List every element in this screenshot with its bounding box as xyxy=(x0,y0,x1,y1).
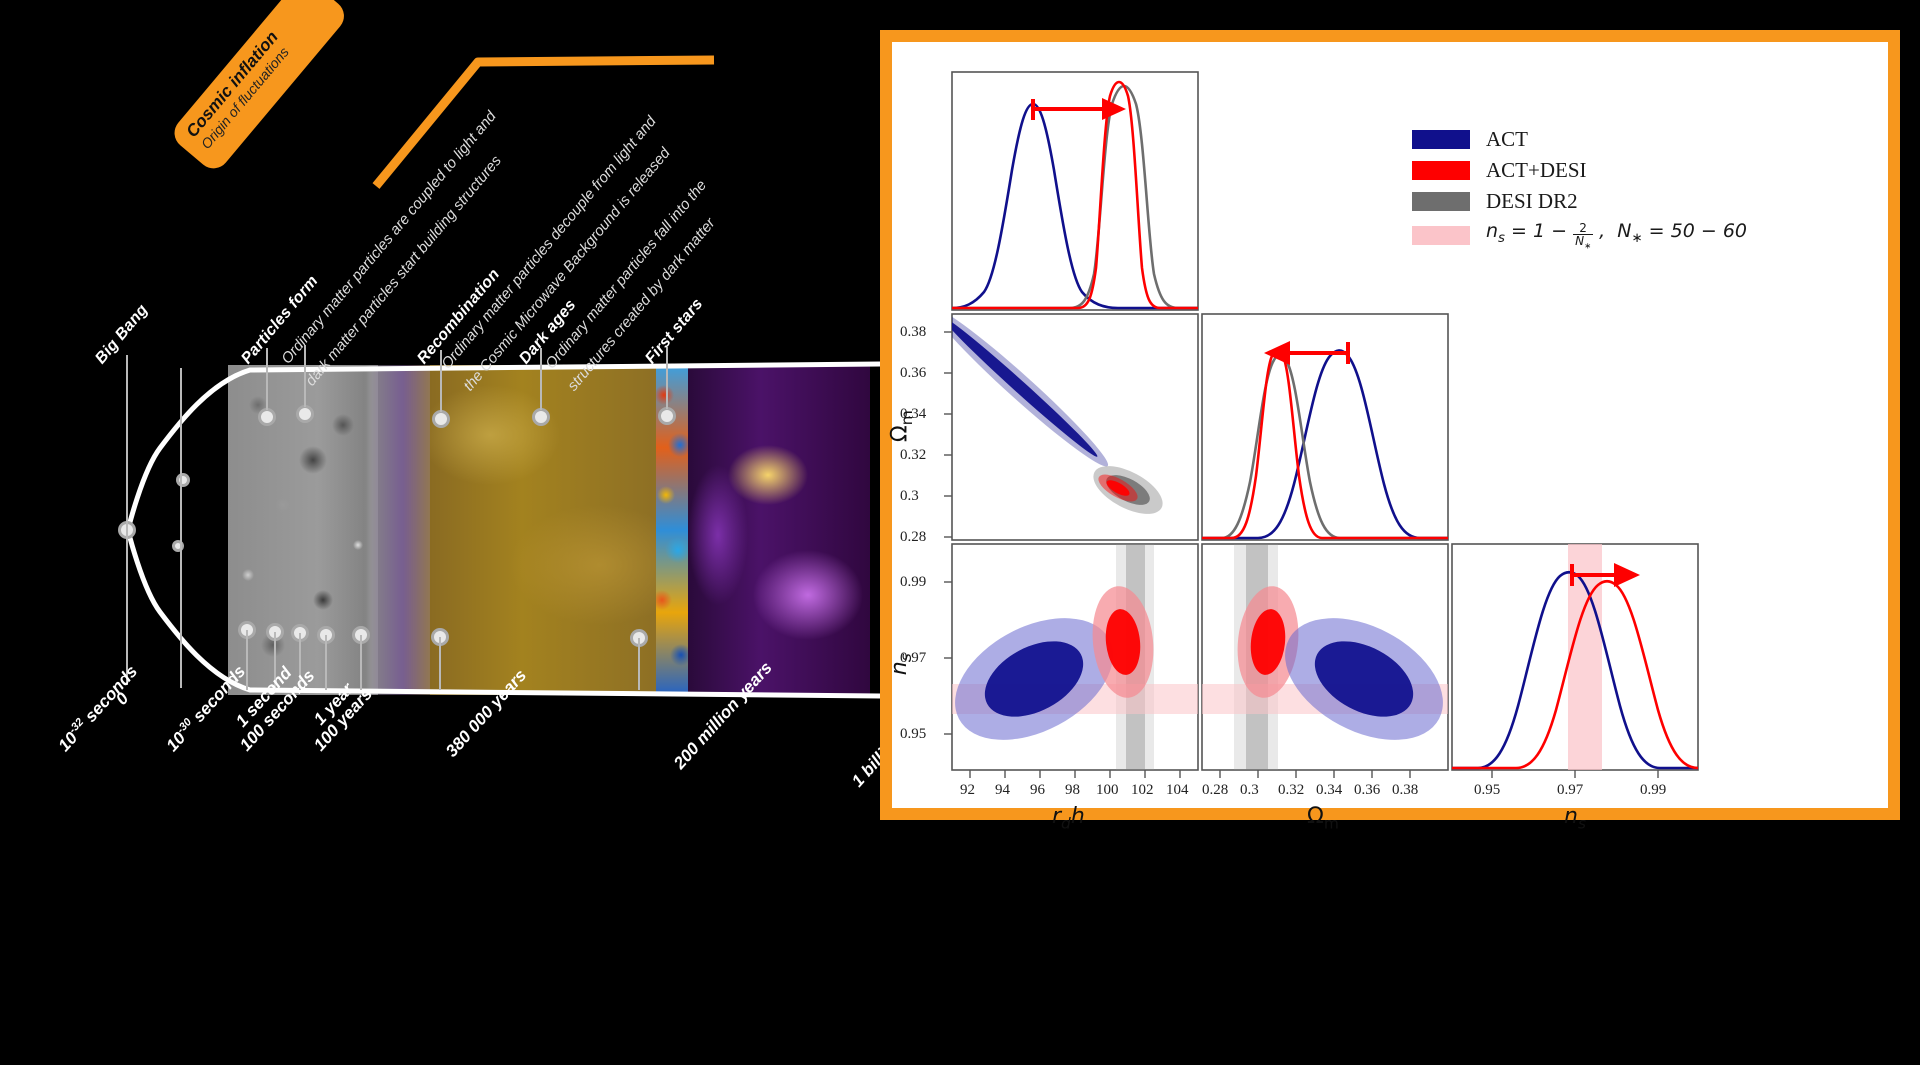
contour-act-1sigma xyxy=(939,313,1102,461)
timeline-dot-top-2 xyxy=(296,405,314,423)
timeline-stem-top-5 xyxy=(666,347,668,409)
ytick-om-0.32: 0.32 xyxy=(900,447,926,464)
callout-subtitle: Origin of fluctuations xyxy=(198,2,327,152)
contours-ns-vs-om xyxy=(1202,544,1463,770)
xtick-ns-0.97: 0.97 xyxy=(1557,782,1583,799)
timeline-label-big-bang: Big Bang xyxy=(92,301,152,368)
xtick-om-0.32: 0.32 xyxy=(1278,782,1304,799)
contours-ns-vs-rdh xyxy=(935,544,1198,770)
timeline-axis-line-5 xyxy=(325,635,327,690)
timeline-dot-inflation-b xyxy=(172,540,184,552)
curve-act-rdh xyxy=(952,104,1198,308)
xtick-om-0.34: 0.34 xyxy=(1316,782,1342,799)
xaxis-label-omega-m: Ωm xyxy=(1307,804,1339,832)
corner-plot-figure: ACT ACT+DESI DESI DR2 ns = 1 − 2N∗ , N∗ … xyxy=(892,42,1888,808)
timeline-desc-structures-2: dark matter particles start building str… xyxy=(302,152,505,390)
xtick-rdh-98: 98 xyxy=(1065,782,1080,799)
callout-cosmic-inflation: Cosmic inflation Origin of fluctuations xyxy=(168,0,350,175)
ytick-om-0.36: 0.36 xyxy=(900,365,926,382)
timeline-axis-line-6 xyxy=(360,635,362,690)
shift-arrow-om xyxy=(1264,341,1348,365)
era-band-structure xyxy=(688,365,870,695)
xtick-rdh-94: 94 xyxy=(995,782,1010,799)
timeline-dot-top-4 xyxy=(532,408,550,426)
timeline-axis-line-0 xyxy=(126,355,128,685)
posterior-1d-om xyxy=(1202,350,1448,538)
curve-act-om xyxy=(1202,350,1448,538)
timeline-axis-line-8 xyxy=(638,638,640,690)
xtick-rdh-104: 104 xyxy=(1166,782,1189,799)
curve-desi-om xyxy=(1202,354,1448,538)
ytick-om-0.30: 0.3 xyxy=(900,488,919,505)
xtick-om-0.30: 0.3 xyxy=(1240,782,1259,799)
ytick-om-0.28: 0.28 xyxy=(900,529,926,546)
xaxis-label-ns: ns xyxy=(1564,804,1586,832)
callout-title: Cosmic inflation xyxy=(182,0,314,142)
posterior-1d-rdh xyxy=(952,82,1198,308)
xtick-om-0.38: 0.38 xyxy=(1392,782,1418,799)
yaxis-label-omega-m: Ωm xyxy=(888,410,916,442)
contours-om-vs-rdh xyxy=(924,299,1170,524)
callout-leader-line xyxy=(370,52,720,192)
xtick-ns-0.99: 0.99 xyxy=(1640,782,1666,799)
timeline-axis-line-1 xyxy=(180,368,182,688)
ytick-ns-0.95: 0.95 xyxy=(900,726,926,743)
ytick-om-0.38: 0.38 xyxy=(900,324,926,341)
timeline-stem-top-4 xyxy=(540,348,542,410)
xtick-ns-0.95: 0.95 xyxy=(1474,782,1500,799)
xtick-rdh-96: 96 xyxy=(1030,782,1045,799)
xaxis-label-rdh: rdh xyxy=(1052,804,1085,832)
panel-frame-om-1d xyxy=(1202,314,1448,540)
timeline-axis-line-2 xyxy=(246,630,248,690)
timeline-dot-top-5 xyxy=(658,407,676,425)
corner-plot-svg xyxy=(892,42,1888,808)
timeline-axis-line-7 xyxy=(439,637,441,690)
timeline-dot-inflation-a xyxy=(176,473,190,487)
posterior-1d-ns xyxy=(1452,544,1698,770)
xtick-rdh-102: 102 xyxy=(1131,782,1154,799)
xtick-om-0.36: 0.36 xyxy=(1354,782,1380,799)
era-band-transition xyxy=(368,365,438,695)
timeline-dot-top-1 xyxy=(258,408,276,426)
xtick-rdh-92: 92 xyxy=(960,782,975,799)
event-sub: dark matter particles start building str… xyxy=(302,152,505,389)
timeline-dot-top-3 xyxy=(432,410,450,428)
curve-act-desi-om xyxy=(1202,350,1448,538)
cosmology-corner-plot-panel: ACT ACT+DESI DESI DR2 ns = 1 − 2N∗ , N∗ … xyxy=(880,30,1900,820)
universe-expansion-cone xyxy=(110,365,870,695)
xtick-rdh-100: 100 xyxy=(1096,782,1119,799)
yaxis-label-ns: ns xyxy=(887,653,915,675)
xtick-om-0.28: 0.28 xyxy=(1202,782,1228,799)
ytick-ns-0.99: 0.99 xyxy=(900,574,926,591)
time-label-1: 10-32 seconds xyxy=(54,661,142,755)
event-title: Big Bang xyxy=(92,301,151,367)
timeline-stem-top-1 xyxy=(266,348,268,410)
